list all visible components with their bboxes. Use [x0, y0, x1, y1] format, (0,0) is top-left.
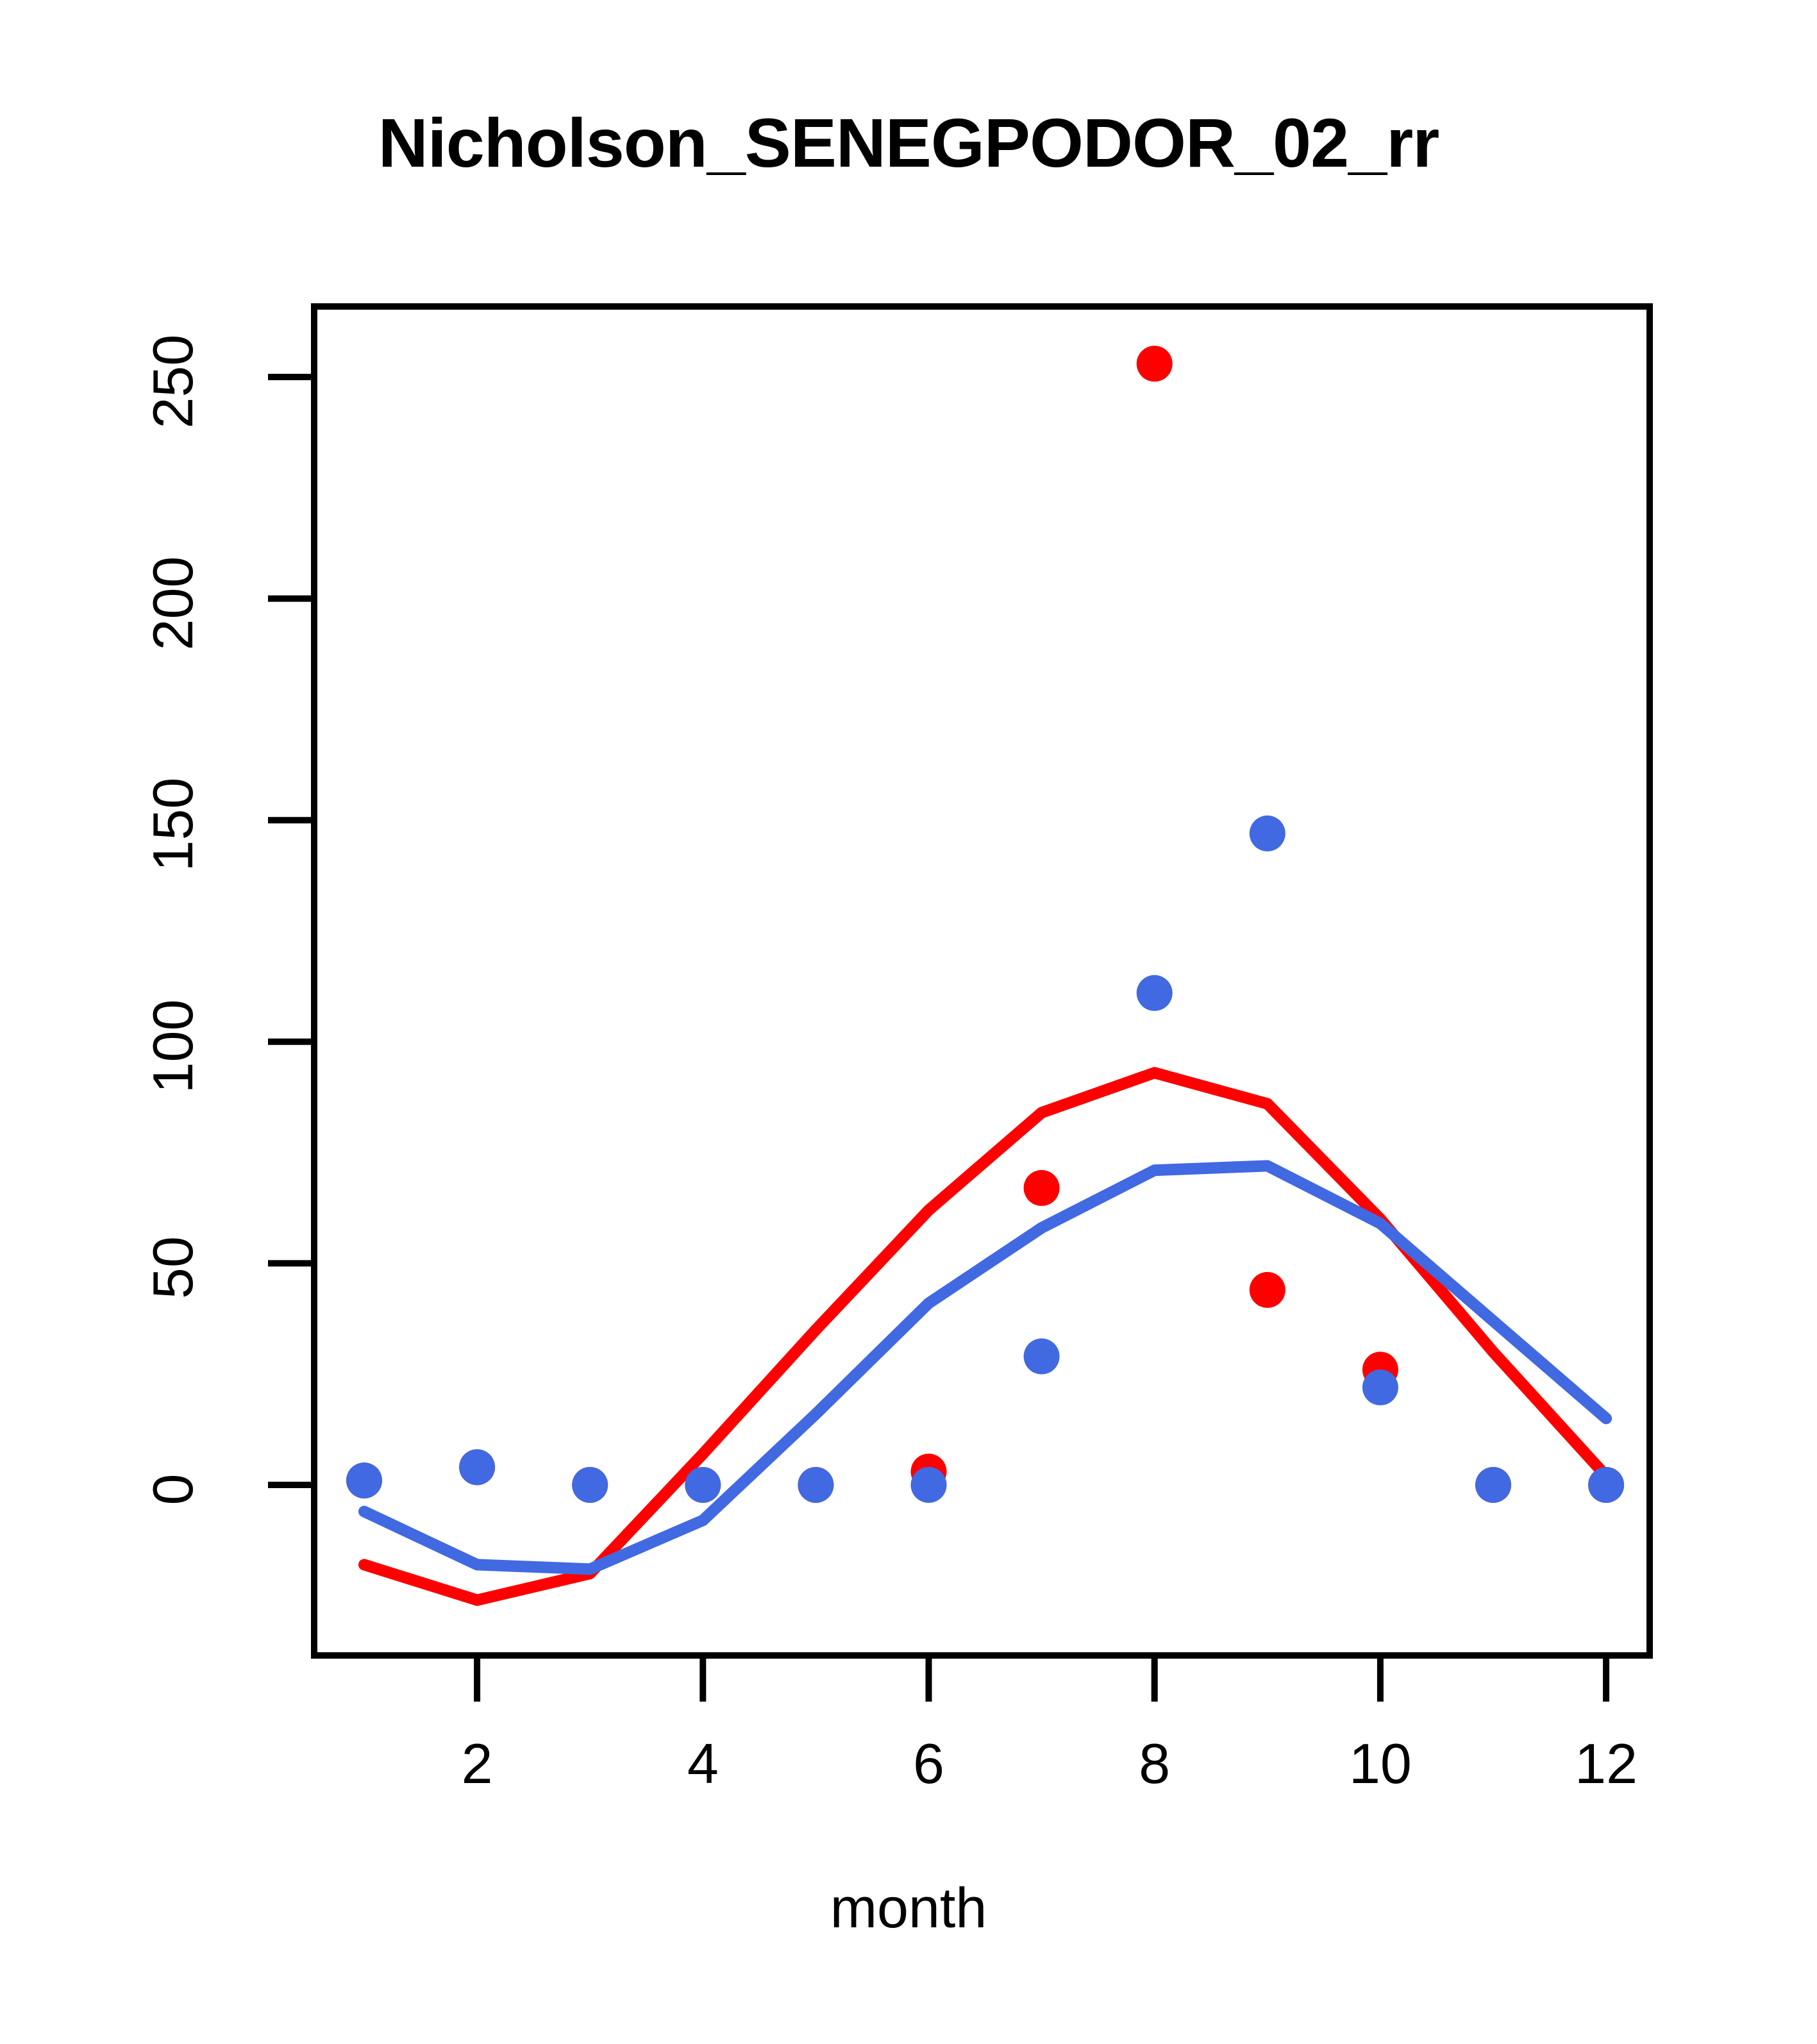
y-tick-label: 200 [140, 546, 206, 661]
data-point-blue-points [685, 1467, 721, 1503]
plot-box-frame [314, 306, 1650, 1655]
data-point-red-points [1137, 346, 1173, 381]
series-lines [364, 1073, 1606, 1600]
series-points [346, 346, 1624, 1503]
data-point-blue-points [911, 1467, 947, 1503]
x-tick-label: 12 [1575, 1731, 1637, 1797]
x-tick-label: 10 [1349, 1731, 1412, 1797]
x-tick-label: 8 [1139, 1731, 1170, 1797]
data-point-blue-points [572, 1467, 608, 1503]
data-point-blue-points [1024, 1339, 1060, 1375]
data-point-blue-points [1588, 1467, 1624, 1503]
y-tick-label: 50 [140, 1210, 206, 1325]
x-tick-label: 2 [462, 1731, 493, 1797]
series-line-red-line [364, 1073, 1606, 1600]
x-tick-label: 4 [687, 1731, 719, 1797]
data-point-blue-points [1137, 975, 1173, 1011]
x-axis-label: month [0, 1875, 1817, 1941]
y-tick-label: 100 [140, 989, 206, 1104]
data-point-blue-points [798, 1467, 833, 1503]
data-point-red-points [1024, 1170, 1060, 1206]
series-line-blue-line [364, 1166, 1606, 1569]
y-tick-label: 0 [140, 1432, 206, 1547]
data-point-red-points [1250, 1272, 1285, 1308]
data-point-blue-points [1250, 816, 1285, 851]
data-point-blue-points [1475, 1467, 1511, 1503]
chart-canvas: Nicholson_SENEGPODOR_02_rr 0501001502002… [0, 0, 1817, 2044]
y-tick-label: 250 [140, 324, 206, 439]
data-point-blue-points [459, 1449, 495, 1485]
x-axis-ticks [477, 1655, 1606, 1702]
plot-svg [0, 0, 1817, 2044]
x-tick-label: 6 [913, 1731, 944, 1797]
y-axis-ticks [268, 377, 314, 1485]
data-point-blue-points [1362, 1370, 1398, 1405]
y-tick-label: 150 [140, 767, 206, 882]
data-point-blue-points [346, 1462, 382, 1498]
